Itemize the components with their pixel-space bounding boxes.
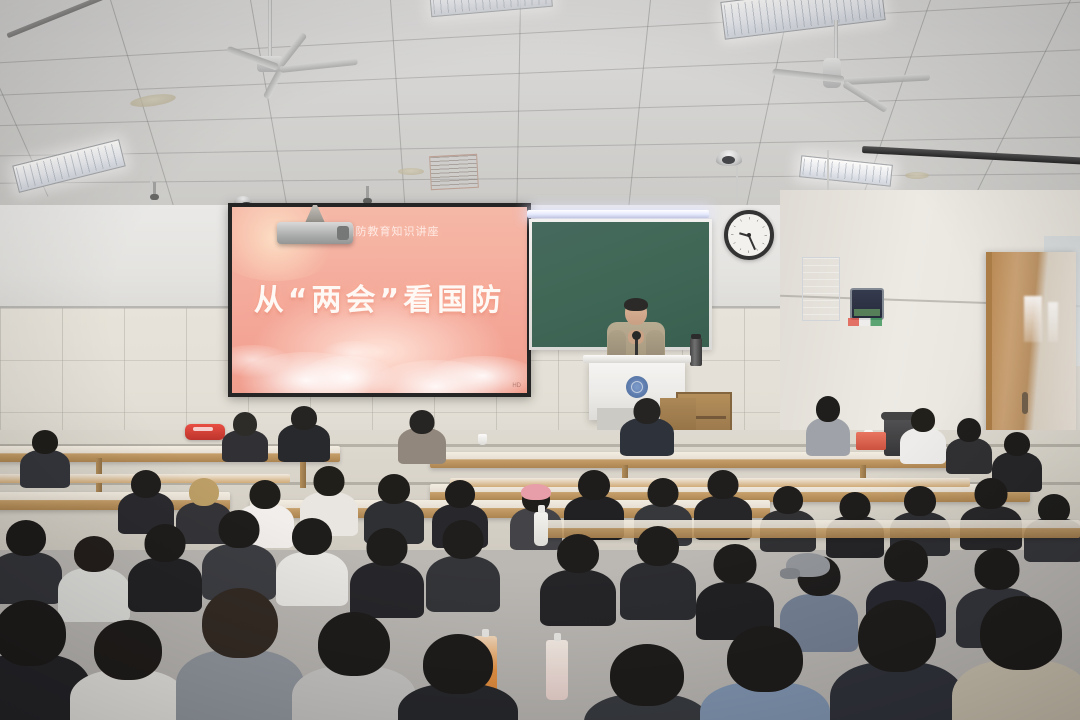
sprinkler-icon [366, 186, 369, 200]
security-camera-icon [716, 150, 742, 166]
list-item [20, 430, 70, 486]
slide-title: 从“两会”看国防 [254, 275, 505, 319]
list-item [696, 544, 774, 636]
ceiling [0, 0, 1080, 215]
list-item [700, 626, 830, 720]
projector-icon [277, 222, 353, 244]
list-item [946, 418, 992, 470]
wall-clock-icon [724, 210, 774, 260]
list-item [620, 526, 696, 616]
list-item [0, 520, 62, 600]
wall-control-panel [850, 288, 884, 320]
screen-tag: HD [512, 383, 521, 389]
back-row-person [222, 412, 268, 460]
paper-cup [478, 434, 487, 445]
school-emblem-icon [626, 376, 648, 398]
lecture-hall-photo: ——国防教育知识讲座 从“两会”看国防 HD [0, 0, 1080, 720]
red-bag [185, 424, 225, 440]
door-handle[interactable] [1022, 392, 1028, 414]
ceiling-conduit [862, 146, 1080, 165]
slide-sun-glow [232, 207, 344, 281]
list-item [952, 596, 1080, 720]
ceiling-vent-icon [905, 172, 929, 179]
list-item [806, 396, 850, 452]
list-item [176, 588, 304, 720]
list-item [350, 528, 424, 614]
back-row-person [398, 410, 446, 462]
pink-cap [521, 484, 551, 500]
back-row-person [620, 398, 674, 454]
info-poster [802, 257, 840, 321]
ceiling-banner [429, 154, 479, 190]
list-item [584, 644, 710, 720]
list-item [540, 534, 616, 622]
red-basket [856, 432, 886, 450]
ceiling-vent-icon [129, 92, 176, 109]
list-item [202, 510, 276, 596]
ceiling-conduit [6, 0, 193, 38]
list-item [900, 408, 946, 460]
light-panel-icon [799, 155, 893, 186]
light-panel-icon [12, 139, 126, 193]
safety-sticker [848, 318, 882, 326]
list-item [70, 620, 186, 720]
sprinkler-icon [153, 182, 156, 196]
projection-screen: ——国防教育知识讲座 从“两会”看国防 HD [228, 203, 531, 397]
door-glare [1024, 296, 1042, 342]
blackboard-light-icon [527, 210, 709, 218]
list-item [118, 470, 174, 530]
ceiling-fan-icon [230, 0, 360, 100]
list-item [426, 520, 500, 608]
ceiling-fan-icon [770, 20, 930, 130]
ceiling-vent-icon [398, 168, 424, 175]
list-item [760, 486, 816, 548]
door-glare [1048, 302, 1058, 342]
back-row-person [278, 406, 330, 460]
list-item [830, 600, 964, 720]
list-item [398, 634, 518, 720]
light-panel-icon [429, 0, 553, 17]
thermos [690, 338, 702, 366]
cap-brim [780, 568, 800, 579]
drink-bottle [546, 640, 568, 700]
